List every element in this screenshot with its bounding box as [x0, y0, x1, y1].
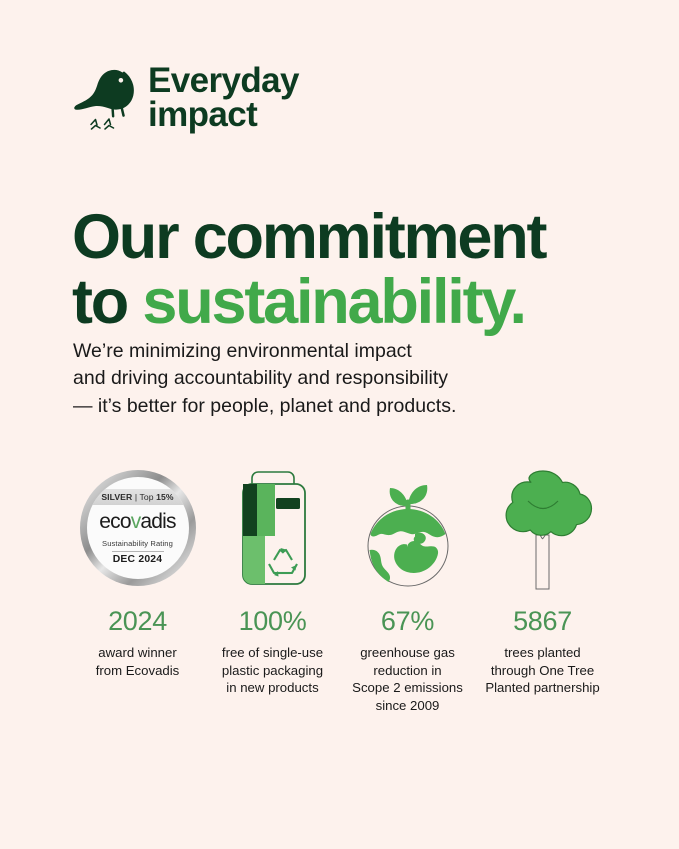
stat-card-trees: 5867 trees planted through One Tree Plan… [475, 462, 610, 697]
wordmark-post: adis [140, 510, 175, 533]
intro-paragraph: We’re minimizing environmental impact an… [73, 338, 553, 421]
caption-line: through One Tree [485, 662, 599, 680]
bird-icon [74, 62, 136, 134]
brand-wordmark-line2: impact [148, 98, 299, 132]
caption-line: reduction in [352, 662, 463, 680]
caption-line: Scope 2 emissions [352, 679, 463, 697]
stat-value: 67% [381, 608, 434, 635]
intro-line-3: — it’s better for people, planet and pro… [73, 393, 553, 421]
medal-level: SILVER [101, 492, 132, 502]
caption-line: trees planted [485, 644, 599, 662]
stat-caption: free of single-use plastic packaging in … [222, 644, 323, 697]
stat-caption: trees planted through One Tree Planted p… [485, 644, 599, 697]
caption-line: Planted partnership [485, 679, 599, 697]
stat-card-ecovadis: SILVER | Top 15% ecovadis Sustainability… [70, 462, 205, 679]
wordmark-pre: eco [99, 510, 130, 533]
headline-line-2-prefix: to [72, 267, 142, 337]
medal-face: SILVER | Top 15% ecovadis Sustainability… [87, 477, 189, 579]
medal-level-banner: SILVER | Top 15% [87, 489, 189, 505]
stat-caption: award winner from Ecovadis [96, 644, 180, 679]
headline-line-2-accent: sustainability. [142, 267, 524, 337]
caption-line: in new products [222, 679, 323, 697]
recyclable-packaging-icon [230, 462, 316, 594]
medal-separator: | [135, 492, 137, 502]
caption-line: plastic packaging [222, 662, 323, 680]
page-title: Our commitment to sustainability. [72, 205, 632, 335]
ecovadis-wordmark: ecovadis [99, 510, 176, 534]
medal-rank: Top 15% [140, 492, 174, 502]
wordmark-v: v [131, 510, 141, 533]
stat-caption: greenhouse gas reduction in Scope 2 emis… [352, 644, 463, 714]
stat-value: 2024 [108, 608, 167, 635]
stats-row: SILVER | Top 15% ecovadis Sustainability… [70, 462, 610, 714]
globe-sprout-icon [352, 462, 464, 594]
intro-line-1: We’re minimizing environmental impact [73, 338, 553, 366]
medal-divider [112, 551, 164, 552]
intro-line-2: and driving accountability and responsib… [73, 365, 553, 393]
caption-line: since 2009 [352, 697, 463, 715]
stat-card-packaging: 100% free of single-use plastic packagin… [205, 462, 340, 697]
tree-icon [491, 462, 595, 594]
stat-value: 5867 [513, 608, 572, 635]
caption-line: from Ecovadis [96, 662, 180, 680]
caption-line: free of single-use [222, 644, 323, 662]
caption-line: award winner [96, 644, 180, 662]
medal-subtitle: Sustainability Rating [102, 539, 173, 548]
medal-date: DEC 2024 [113, 554, 163, 565]
brand-wordmark: Everyday impact [148, 64, 299, 132]
brand-logo: Everyday impact [74, 62, 299, 134]
ecovadis-medal-icon: SILVER | Top 15% ecovadis Sustainability… [80, 462, 196, 594]
stat-card-emissions: 67% greenhouse gas reduction in Scope 2 … [340, 462, 475, 714]
caption-line: greenhouse gas [352, 644, 463, 662]
stat-value: 100% [239, 608, 307, 635]
headline-line-1: Our commitment [72, 202, 545, 272]
